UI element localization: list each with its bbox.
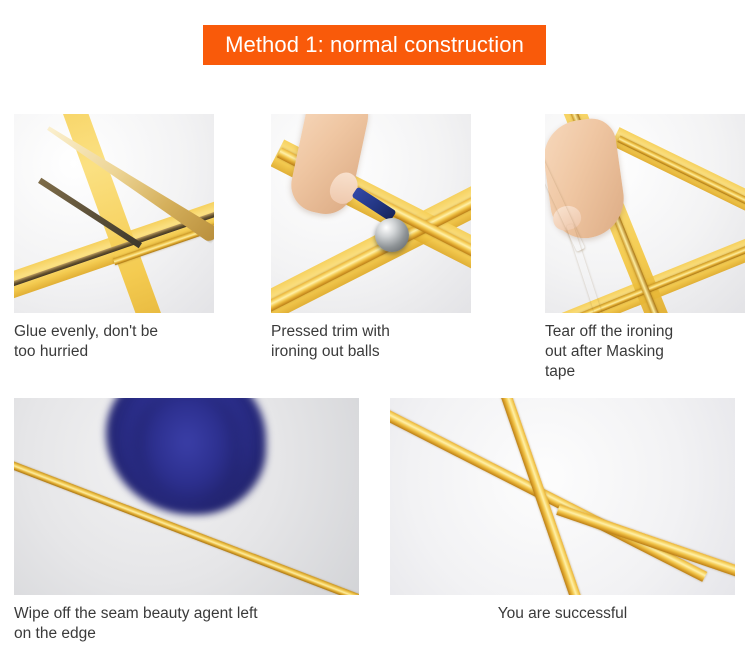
step-caption-1: Glue evenly, don't be too hurried bbox=[14, 322, 214, 362]
wiping-edge-photo bbox=[14, 398, 359, 595]
step-caption-5: You are successful bbox=[390, 604, 735, 624]
step-caption-3: Tear off the ironing out after Masking t… bbox=[545, 322, 745, 382]
tearing-tape-photo bbox=[545, 114, 745, 313]
method-title-banner: Method 1: normal construction bbox=[203, 25, 546, 65]
ironing-out-ball bbox=[375, 218, 409, 252]
step-card-4: Wipe off the seam beauty agent left on t… bbox=[14, 398, 359, 644]
step-caption-4: Wipe off the seam beauty agent left on t… bbox=[14, 604, 359, 644]
applying-glue-photo bbox=[14, 114, 214, 313]
step-card-5: You are successful bbox=[390, 398, 735, 624]
step-card-1: Glue evenly, don't be too hurried bbox=[14, 114, 214, 362]
pressing-trim-photo bbox=[271, 114, 471, 313]
finished-seam-photo bbox=[390, 398, 735, 595]
step-card-2: Pressed trim with ironing out balls bbox=[271, 114, 471, 362]
step-caption-2: Pressed trim with ironing out balls bbox=[271, 322, 471, 362]
step-card-3: Tear off the ironing out after Masking t… bbox=[545, 114, 745, 382]
banner-container: Method 1: normal construction bbox=[0, 25, 749, 65]
